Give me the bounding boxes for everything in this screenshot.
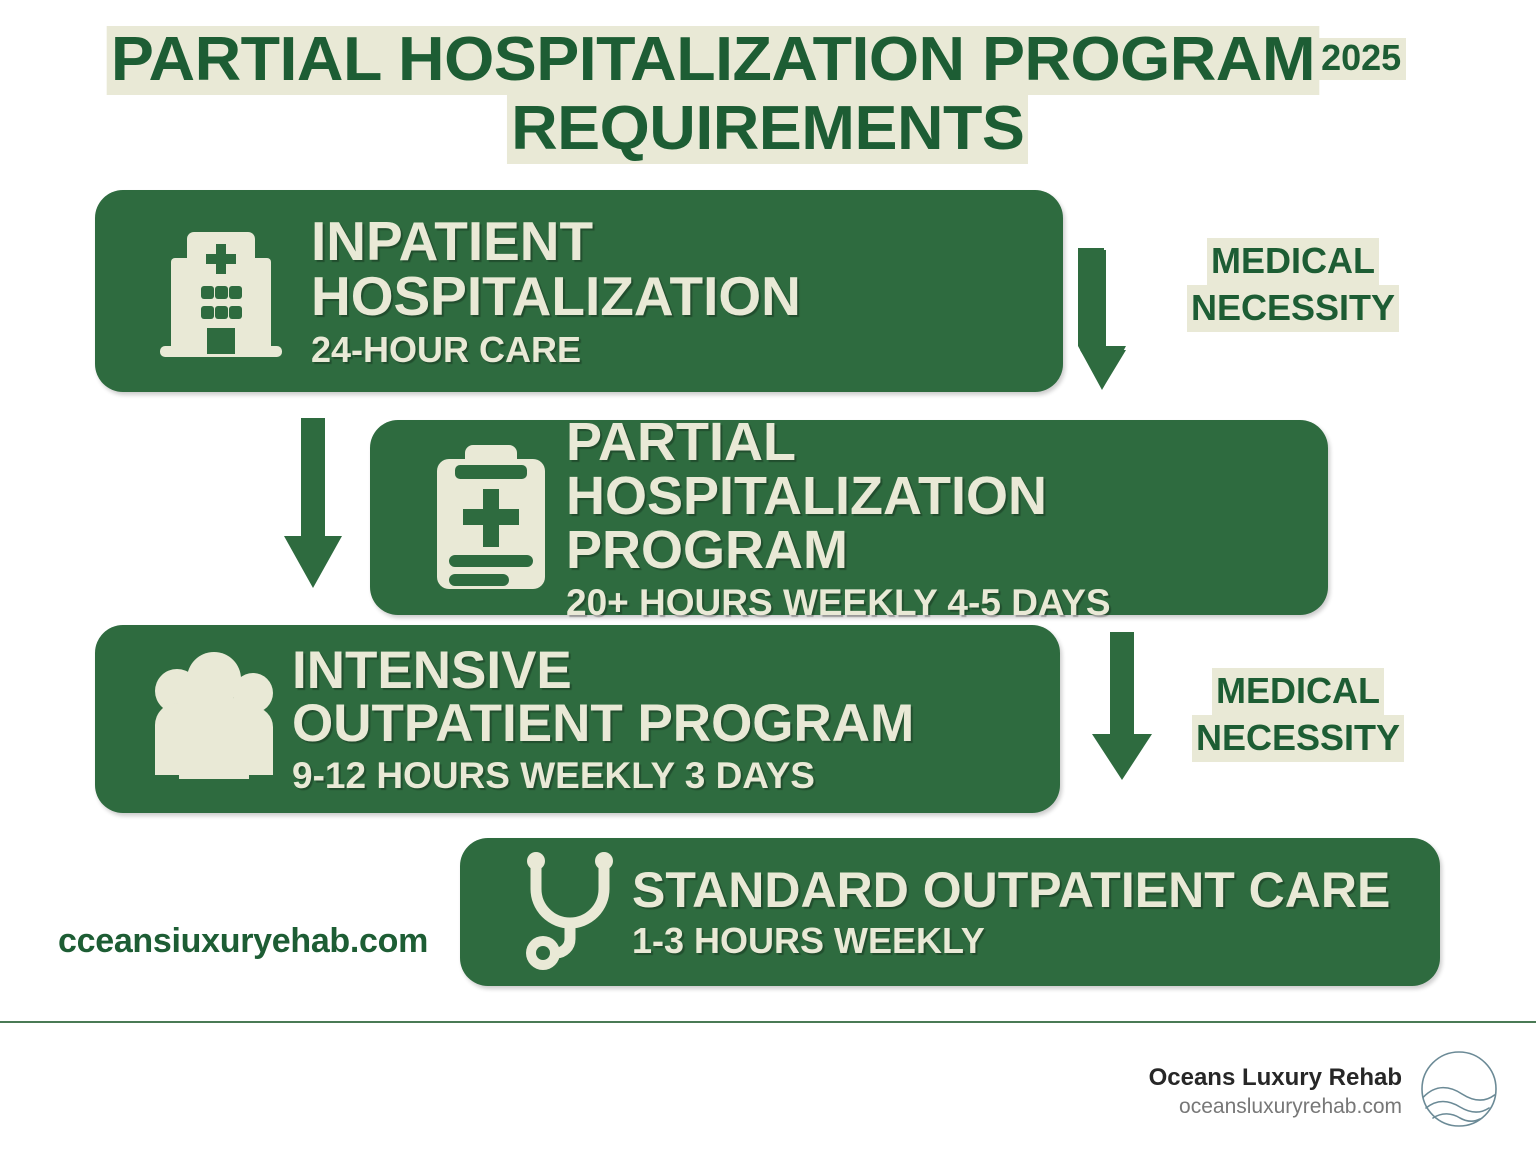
- card-standard-outpatient-care[interactable]: STANDARD OUTPATIENT CARE 1-3 HOURS WEEKL…: [460, 838, 1440, 986]
- card-inpatient-title: INPATIENT HOSPITALIZATION: [311, 214, 1063, 324]
- card-inpatient-text: INPATIENT HOSPITALIZATION 24-HOUR CARE: [311, 214, 1063, 368]
- medical-necessity-1-line2: NECESSITY: [1187, 285, 1399, 332]
- medical-necessity-2-line2: NECESSITY: [1192, 715, 1404, 762]
- card-standard-subtitle: 1-3 HOURS WEEKLY: [632, 923, 1440, 959]
- footer-text: Oceans Luxury Rehab oceansluxuryrehab.co…: [1149, 1063, 1402, 1120]
- title-year-badge: 2025: [1316, 38, 1406, 80]
- footer-divider: [0, 1021, 1536, 1023]
- medical-necessity-2-line1: MEDICAL: [1212, 668, 1384, 715]
- people-group-icon: [137, 649, 292, 789]
- card-iop-subtitle: 9-12 HOURS WEEKLY 3 DAYS: [292, 757, 1060, 794]
- arrow-down-iop-to-standard: [1090, 632, 1154, 780]
- card-partial-hospitalization-program[interactable]: PARTIAL HOSPITALIZATION PROGRAM 20+ HOUR…: [370, 420, 1328, 615]
- title-line-2-wrapper: REQUIREMENTS: [0, 95, 1536, 164]
- card-php-subtitle: 20+ HOURS WEEKLY 4-5 DAYS: [566, 584, 1328, 621]
- page-title: PARTIAL HOSPITALIZATION PROGRAM 2025 REQ…: [0, 26, 1536, 164]
- medical-necessity-label-2: MEDICAL NECESSITY: [1178, 668, 1418, 762]
- card-iop-title: INTENSIVE OUTPATIENT PROGRAM: [292, 644, 1060, 750]
- arrow-down-inpatient-to-php: [1072, 248, 1146, 390]
- arrow-down-php-to-iop: [282, 418, 344, 588]
- card-standard-text: STANDARD OUTPATIENT CARE 1-3 HOURS WEEKL…: [632, 865, 1440, 959]
- medical-clipboard-icon: [416, 443, 566, 593]
- site-url-text[interactable]: cceansiuxuryehab.com: [58, 922, 428, 961]
- footer-brand-name: Oceans Luxury Rehab: [1149, 1063, 1402, 1093]
- hospital-building-icon: [131, 216, 311, 366]
- ocean-wave-circle-logo: [1420, 1050, 1498, 1133]
- card-php-title: PARTIAL HOSPITALIZATION PROGRAM: [566, 415, 1328, 577]
- card-inpatient-hospitalization[interactable]: INPATIENT HOSPITALIZATION 24-HOUR CARE: [95, 190, 1063, 392]
- footer-url[interactable]: oceansluxuryrehab.com: [1149, 1093, 1402, 1120]
- card-iop-text: INTENSIVE OUTPATIENT PROGRAM 9-12 HOURS …: [292, 644, 1060, 794]
- medical-necessity-label-1: MEDICAL NECESSITY: [1168, 238, 1418, 332]
- card-standard-title: STANDARD OUTPATIENT CARE: [632, 865, 1440, 915]
- medical-necessity-1-line1: MEDICAL: [1207, 238, 1379, 285]
- footer: Oceans Luxury Rehab oceansluxuryrehab.co…: [1149, 1050, 1498, 1133]
- card-php-text: PARTIAL HOSPITALIZATION PROGRAM 20+ HOUR…: [566, 415, 1328, 621]
- title-line-1-wrapper: PARTIAL HOSPITALIZATION PROGRAM 2025: [0, 26, 1536, 95]
- card-inpatient-subtitle: 24-HOUR CARE: [311, 332, 1063, 368]
- title-line-1: PARTIAL HOSPITALIZATION PROGRAM: [106, 26, 1319, 95]
- stethoscope-icon: [502, 847, 632, 977]
- card-intensive-outpatient-program[interactable]: INTENSIVE OUTPATIENT PROGRAM 9-12 HOURS …: [95, 625, 1060, 813]
- title-line-2: REQUIREMENTS: [507, 95, 1029, 164]
